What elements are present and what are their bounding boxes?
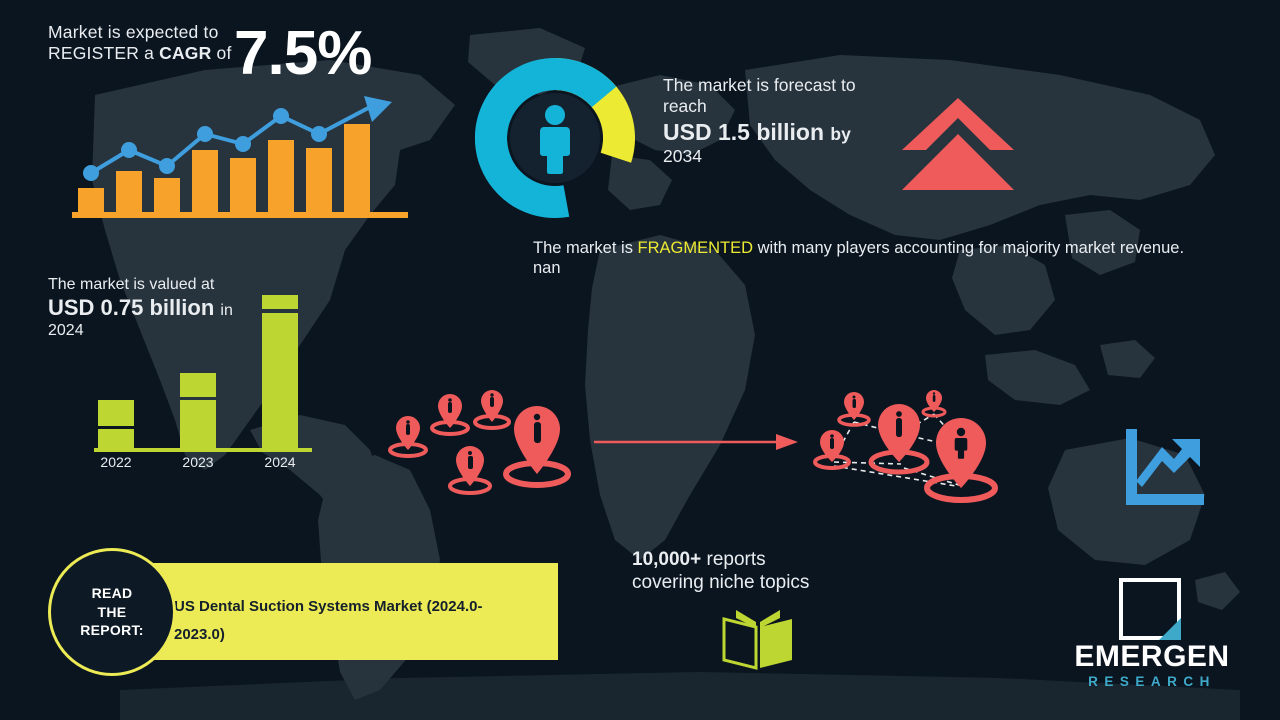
- cagr-keyword: CAGR: [159, 43, 211, 63]
- fragmentation-text-block: The market is FRAGMENTED with many playe…: [533, 238, 1213, 278]
- infographic-canvas: 2022 2023 2024: [0, 0, 1280, 720]
- valuation-in-text: in: [220, 302, 232, 319]
- forecast-line-2: reach: [663, 96, 903, 117]
- map-pin-icon: [475, 390, 509, 428]
- forecast-value: USD 1.5 billion: [663, 119, 824, 145]
- map-pin-icon: [923, 390, 945, 416]
- right-arrow-icon: [592, 428, 798, 456]
- open-book-icon: [718, 608, 798, 670]
- forecast-line-1: The market is forecast to: [663, 75, 903, 96]
- logo-square-icon: [1119, 578, 1181, 640]
- line-chart-up-icon: [1120, 425, 1208, 513]
- cagr-register-text: REGISTER a: [48, 43, 159, 63]
- map-pin-icon: [450, 446, 490, 493]
- logo-wordmark: EMERGEN: [1057, 640, 1247, 674]
- valuation-text-block: The market is valued at USD 0.75 billion…: [48, 275, 348, 341]
- double-chevron-up-icon: [898, 98, 1018, 190]
- bar-label-2022: 2022: [100, 454, 131, 470]
- reports-count: 10,000+: [632, 549, 701, 570]
- forecast-year: 2034: [663, 146, 903, 167]
- read-report-badge[interactable]: READTHEREPORT:: [48, 548, 176, 676]
- bar-label-2023: 2023: [182, 454, 213, 470]
- report-title: US Dental Suction Systems Market (2024.0…: [174, 593, 514, 649]
- location-pins-scattered: [382, 388, 582, 496]
- cagr-value: 7.5%: [234, 18, 371, 89]
- map-pin-icon: [432, 394, 468, 434]
- map-pin-icon: [390, 416, 426, 456]
- logo-subtext: RESEARCH: [1057, 674, 1247, 689]
- map-pin-icon: [927, 418, 995, 500]
- map-pin-icon: [506, 406, 568, 485]
- valuation-line-1: The market is valued at: [48, 275, 348, 295]
- growth-trend-bar-chart: [72, 88, 408, 218]
- emergen-research-logo: EMERGEN RESEARCH: [1057, 578, 1247, 698]
- cagr-of-text: of: [211, 43, 231, 63]
- location-pins-network: [806, 386, 1016, 504]
- valuation-value: USD 0.75 billion: [48, 295, 214, 320]
- reports-line-1: 10,000+ reports: [632, 548, 932, 571]
- forecast-text-block: The market is forecast to reach USD 1.5 …: [663, 75, 903, 167]
- fragmentation-highlight: FRAGMENTED: [638, 239, 754, 257]
- reports-word: reports: [701, 549, 765, 570]
- forecast-value-row: USD 1.5 billion by: [663, 118, 903, 146]
- read-report-label: READTHEREPORT:: [80, 584, 144, 641]
- reports-count-block: 10,000+ reports covering niche topics: [632, 548, 932, 594]
- valuation-value-row: USD 0.75 billion in: [48, 295, 348, 322]
- market-share-donut: [470, 52, 640, 224]
- fragmentation-pre: The market is: [533, 239, 638, 257]
- map-pin-icon: [839, 392, 869, 425]
- reports-line-2: covering niche topics: [632, 571, 932, 594]
- forecast-by-text: by: [830, 124, 850, 144]
- valuation-year: 2024: [48, 321, 348, 341]
- bar-label-2024: 2024: [264, 454, 295, 470]
